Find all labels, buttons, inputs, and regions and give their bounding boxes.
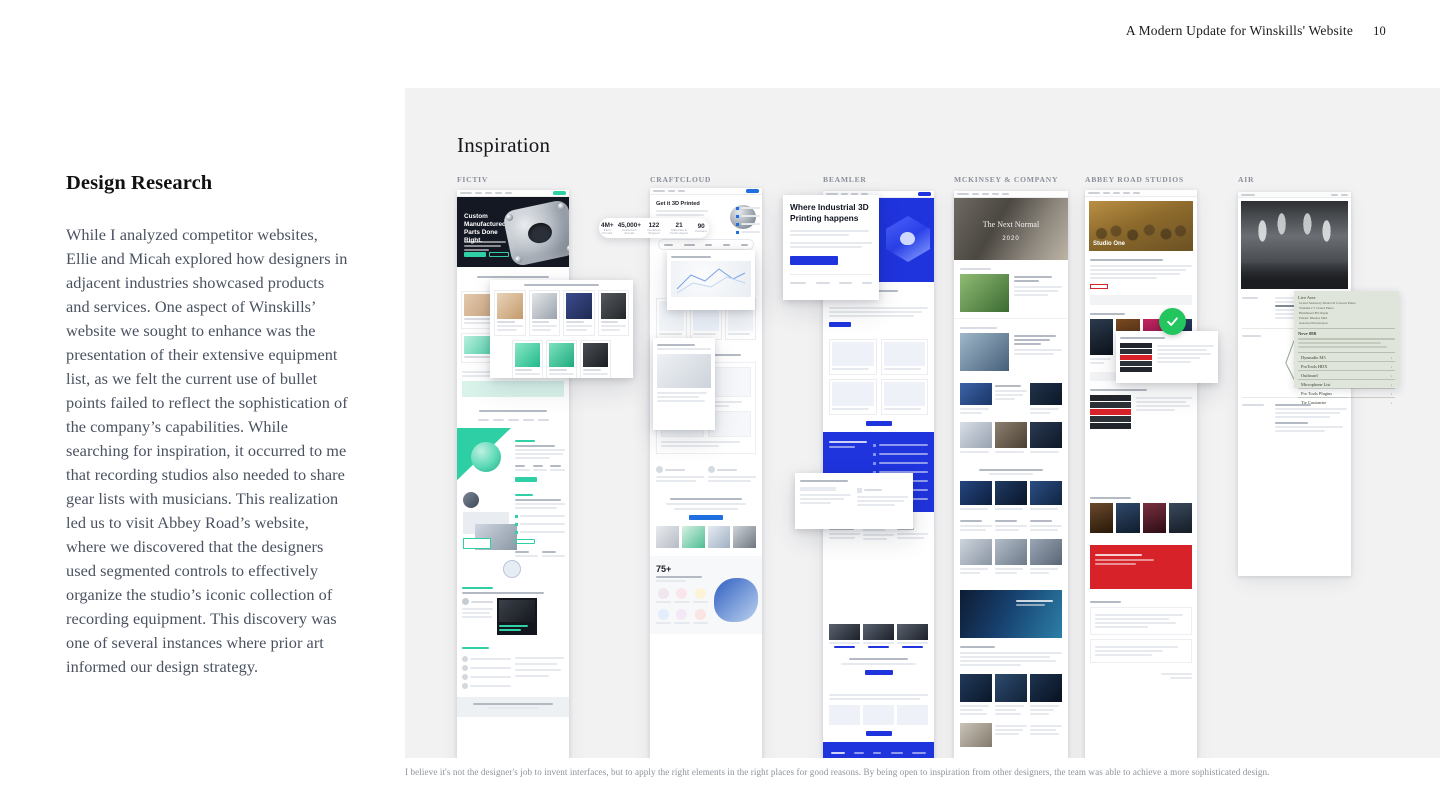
fictiv-navbar <box>457 190 569 197</box>
column-label-air: AIR <box>1238 175 1254 184</box>
running-title: A Modern Update for Winskills' Website <box>1126 23 1353 39</box>
machined-part-image <box>502 199 569 267</box>
product-tile[interactable] <box>512 340 543 378</box>
stat-item: 21 Materials & Technologies <box>665 222 693 235</box>
section-heading: Design Research <box>66 172 351 195</box>
mckinsey-hero-year: 2020 <box>954 236 1068 242</box>
abbey-navbar <box>1085 190 1197 197</box>
air-list-row[interactable]: Pro Tools Plugins › <box>1298 389 1395 398</box>
abbey-equipment-section <box>1085 381 1197 435</box>
beamler-cta-section <box>823 652 934 686</box>
beamler-card-logos <box>790 274 872 286</box>
product-tile[interactable] <box>580 340 611 378</box>
panel-caption: I believe it's not the designer's job to… <box>405 766 1440 779</box>
stat-item: 45,000+ Customers Served <box>616 222 643 235</box>
beamler-usecases-cta[interactable] <box>829 322 851 327</box>
air-group-line: Assorted Percussion <box>1299 321 1395 326</box>
mckinsey-card-row-3 <box>954 539 1068 584</box>
stat-item: 90 Partners <box>693 223 709 233</box>
mckinsey-topics-heading <box>954 461 1068 481</box>
beamler-hero-card[interactable]: Where Industrial 3D Printing happens <box>783 195 879 300</box>
craftcloud-machine-card[interactable] <box>653 338 715 430</box>
air-list-row[interactable]: Tie Customise › <box>1298 398 1395 406</box>
abbey-explore-cta[interactable] <box>1090 284 1108 289</box>
craftcloud-stats-inline <box>658 239 754 250</box>
product-tile[interactable] <box>494 290 526 336</box>
fictiv-cta-secondary[interactable] <box>489 252 509 257</box>
abbey-news-section <box>1085 255 1197 295</box>
fictiv-network-cta[interactable] <box>515 477 537 482</box>
abbey-gallery-section <box>1085 489 1197 539</box>
craftcloud-reality-section <box>650 490 762 556</box>
product-tile[interactable] <box>598 290 630 336</box>
air-group-title: Live Area <box>1298 295 1315 300</box>
abbey-news-list <box>1085 595 1197 667</box>
air-list-row[interactable]: Outboard › <box>1298 371 1395 380</box>
globe-graphic <box>471 442 501 472</box>
mckinsey-card-row-1 <box>954 377 1068 422</box>
beamler-cards-cta[interactable] <box>866 421 892 426</box>
wireframe-model-icon <box>671 261 751 297</box>
column-label-craftcloud: CRAFTCLOUD <box>650 175 711 184</box>
fictiv-quality-section <box>457 486 569 580</box>
beamler-printer-row <box>823 620 934 652</box>
chevron-right-icon: › <box>1391 373 1392 378</box>
screenshot-mckinsey[interactable]: The Next Normal 2020 <box>954 191 1068 758</box>
fictiv-network-section <box>457 428 569 486</box>
chevron-right-icon: › <box>1391 355 1392 360</box>
air-equipment-panel[interactable]: Live Area Grand Steinway Model D Concert… <box>1294 291 1399 388</box>
column-label-mckinsey: MCKINSEY & COMPANY <box>954 175 1058 184</box>
product-tile[interactable] <box>563 290 595 336</box>
running-header: A Modern Update for Winskills' Website 1… <box>1126 23 1386 39</box>
inspiration-board: FICTIV CRAFTCLOUD BEAMLER MCKINSEY & COM… <box>405 88 1440 758</box>
fictiv-capabilities-card[interactable] <box>490 280 633 378</box>
craftcloud-reality-cta[interactable] <box>689 515 723 520</box>
craftcloud-navbar <box>650 188 762 195</box>
craftcloud-stats-pill: 4M+ Parts Printed 45,000+ Customers Serv… <box>599 218 709 238</box>
mckinsey-card-row-4 <box>954 674 1068 723</box>
beamler-card-cta[interactable] <box>790 256 838 265</box>
beamler-card-headline: Where Industrial 3D Printing happens <box>790 202 872 224</box>
air-list-row[interactable]: Microphone List › <box>1298 380 1395 389</box>
air-list-row[interactable]: ProTools HDX › <box>1298 362 1395 371</box>
air-group-title: Neve 88R <box>1298 331 1395 336</box>
fictiv-quality-cta[interactable] <box>515 539 535 544</box>
beamler-cards-section <box>823 333 934 432</box>
craftcloud-big-stat: 75+ <box>656 564 756 574</box>
fictiv-footer-cta <box>457 697 569 717</box>
abbey-hero-label: Studio One <box>1093 241 1125 247</box>
column-label-beamler: BEAMLER <box>823 175 867 184</box>
check-badge <box>1159 308 1186 335</box>
abbey-red-banner <box>1090 545 1192 589</box>
screenshot-fictiv[interactable]: Custom Manufactured Parts Done Right. <box>457 190 569 758</box>
abbey-segmented-control[interactable] <box>1090 395 1131 429</box>
product-tile[interactable] <box>529 290 561 336</box>
fictiv-reviews-section <box>457 640 569 697</box>
stat-item: 4M+ Parts Printed <box>599 222 616 235</box>
column-label-fictiv: FICTIV <box>457 175 488 184</box>
stat-item: 122 Countries Shipped <box>643 222 665 235</box>
overlay-segmented-control[interactable] <box>1120 343 1152 372</box>
craftcloud-reviews-section <box>650 460 762 490</box>
beamler-compare-card[interactable] <box>795 473 913 529</box>
3d-print-icon <box>886 216 930 262</box>
mckinsey-feature-wide <box>954 584 1068 644</box>
inspiration-panel: Inspiration FICTIV CRAFTCLOUD BEAMLER MC… <box>405 88 1440 758</box>
beamler-bottom-cta[interactable] <box>865 670 893 675</box>
fictiv-cta-primary[interactable] <box>464 252 486 257</box>
chevron-right-icon: › <box>1391 391 1392 396</box>
chevron-right-icon: › <box>1391 400 1392 405</box>
product-tile[interactable] <box>546 340 577 378</box>
beamler-footer-logos <box>823 742 934 758</box>
abbey-hero-photo: Studio One <box>1089 201 1193 251</box>
mckinsey-hero: The Next Normal 2020 <box>954 198 1068 260</box>
mckinsey-topic-tiles <box>954 481 1068 518</box>
beamler-network-section <box>823 686 934 742</box>
mckinsey-card-row-2 <box>954 422 1068 461</box>
chevron-right-icon: › <box>1391 382 1392 387</box>
section-body-text: While I analyzed competitor websites, El… <box>66 223 351 679</box>
mckinsey-hero-title: The Next Normal <box>954 220 1068 229</box>
mckinsey-navbar <box>954 191 1068 198</box>
fictiv-trusted-section <box>457 403 569 428</box>
chevron-right-icon: › <box>1391 364 1392 369</box>
fictiv-testimonial-section <box>457 580 569 640</box>
air-hero-photo <box>1241 201 1348 289</box>
column-label-abbey-road: ABBEY ROAD STUDIOS <box>1085 175 1184 184</box>
screenshot-abbey-road[interactable]: Studio One <box>1085 190 1197 758</box>
design-research-section: Design Research While I analyzed competi… <box>66 172 351 679</box>
mckinsey-article-2[interactable] <box>954 318 1068 377</box>
craftcloud-education-section: 75+ <box>650 556 762 634</box>
craftcloud-model-card[interactable] <box>667 250 755 310</box>
mckinsey-card-row-5 <box>954 723 1068 755</box>
check-icon <box>1165 314 1180 329</box>
mckinsey-article-1[interactable] <box>954 260 1068 318</box>
page-number: 10 <box>1373 24 1386 39</box>
abbey-equipment-overlay-card[interactable] <box>1116 331 1218 383</box>
mckinsey-list-section <box>954 646 1068 674</box>
mckinsey-topic-tiles-2 <box>954 518 1068 539</box>
air-list-row[interactable]: Dynaudio M3 › <box>1298 353 1395 362</box>
fictiv-hero: Custom Manufactured Parts Done Right. <box>457 197 569 267</box>
